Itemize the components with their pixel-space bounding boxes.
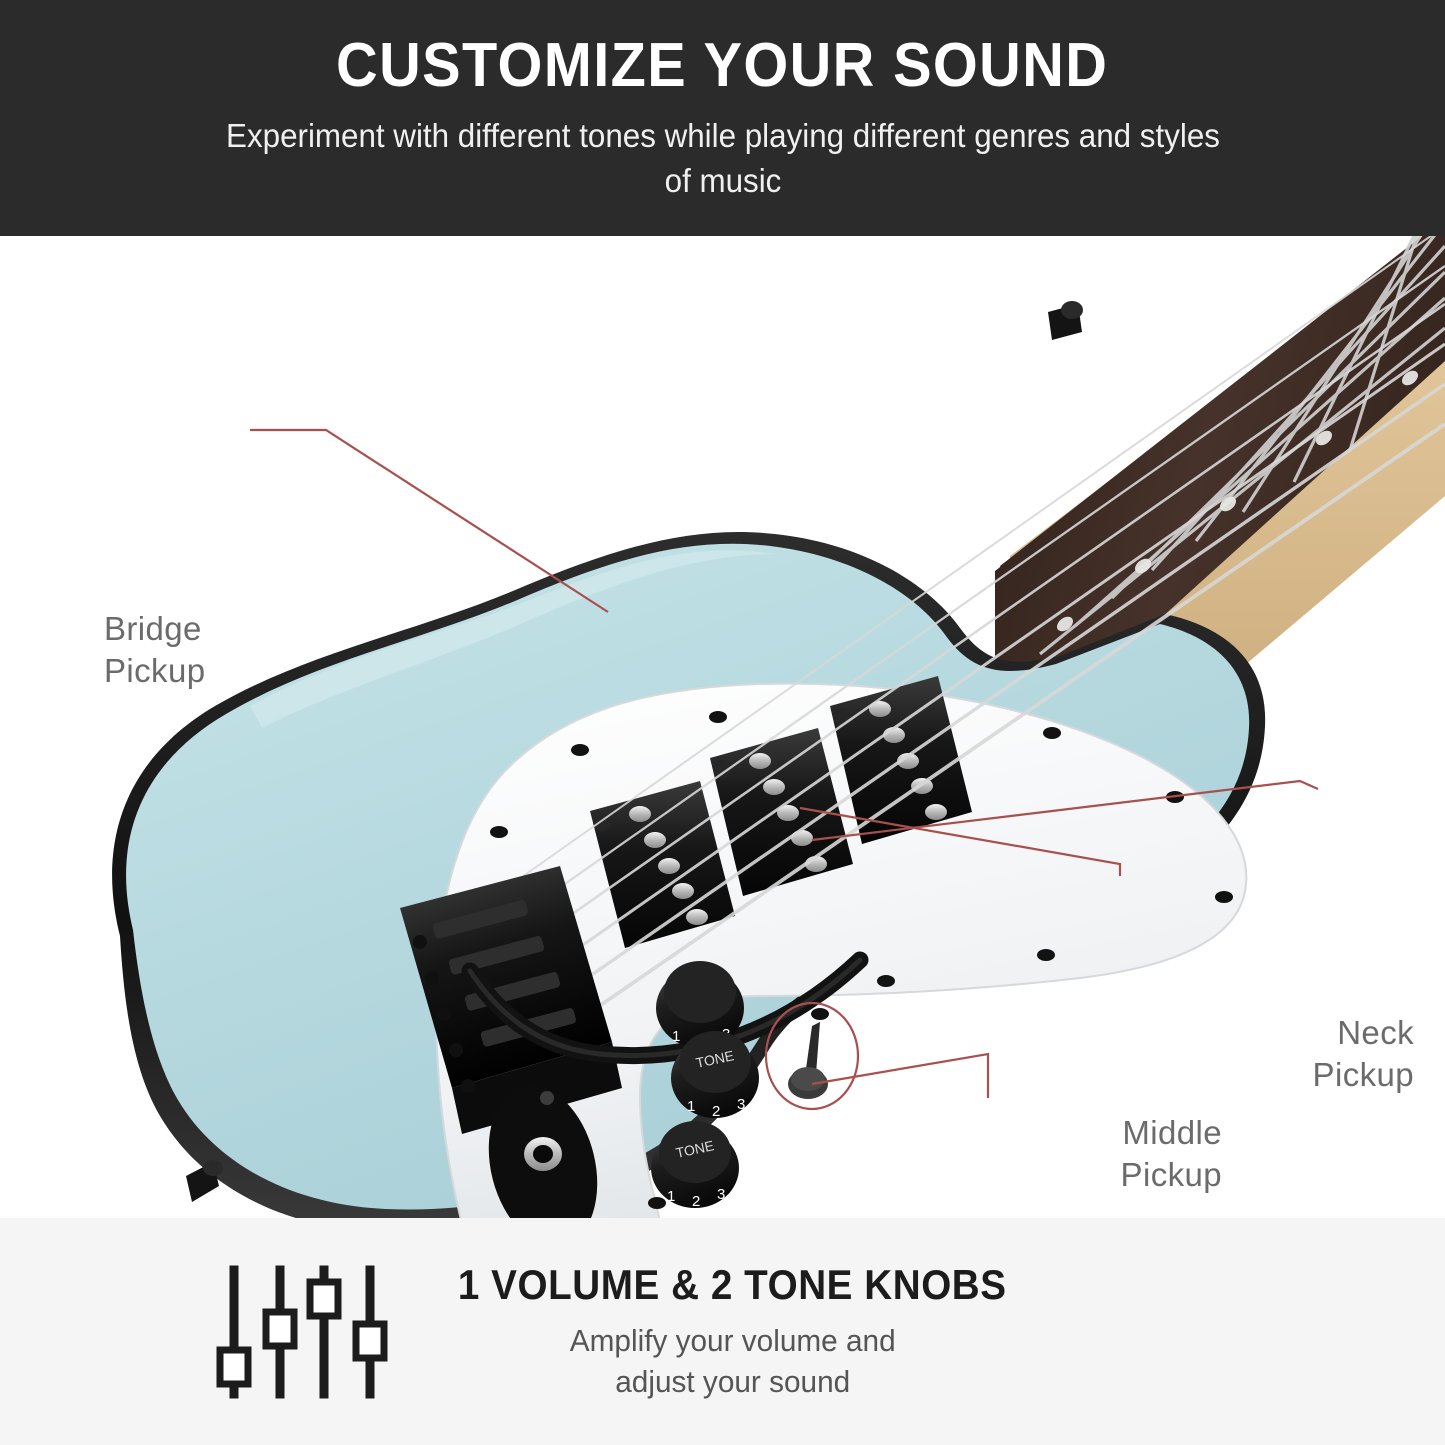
svg-text:1: 1 [672,1028,680,1045]
svg-text:1: 1 [687,1098,695,1115]
svg-text:3: 3 [717,1186,725,1203]
svg-text:2: 2 [712,1103,720,1120]
feature-banner-subtitle: Amplify your volume and adjust your soun… [569,1321,895,1402]
feature-banner-text: 1 VOLUME & 2 TONE KNOBS Amplify your vol… [434,1261,1030,1402]
page-subtitle: Experiment with different tones while pl… [224,114,1222,203]
svg-text:3: 3 [737,1096,745,1113]
strap-button-upper [1048,301,1083,340]
svg-text:2: 2 [692,1193,700,1210]
strap-button-lower [186,1160,223,1202]
callout-label-middle-pickup: Middle Pickup [1010,1112,1222,1196]
product-hero-image: 123 TONE 123 TONE 123 [0,236,1445,1218]
feature-banner: 1 VOLUME & 2 TONE KNOBS Amplify your vol… [0,1218,1445,1445]
page-title: CUSTOMIZE YOUR SOUND [336,33,1108,98]
header-banner: CUSTOMIZE YOUR SOUND Experiment with dif… [0,0,1445,236]
feature-banner-title: 1 VOLUME & 2 TONE KNOBS [458,1261,1007,1309]
guitar-illustration: 123 TONE 123 TONE 123 [0,236,1445,1218]
callout-label-neck-pickup: Neck Pickup [1238,1012,1414,1096]
svg-text:1: 1 [667,1188,675,1205]
leader-five-way-switch [812,1054,988,1098]
callout-label-bridge-pickup: Bridge Pickup [104,608,205,692]
five-way-switch[interactable] [788,1022,828,1099]
sliders-icon [212,1262,392,1402]
